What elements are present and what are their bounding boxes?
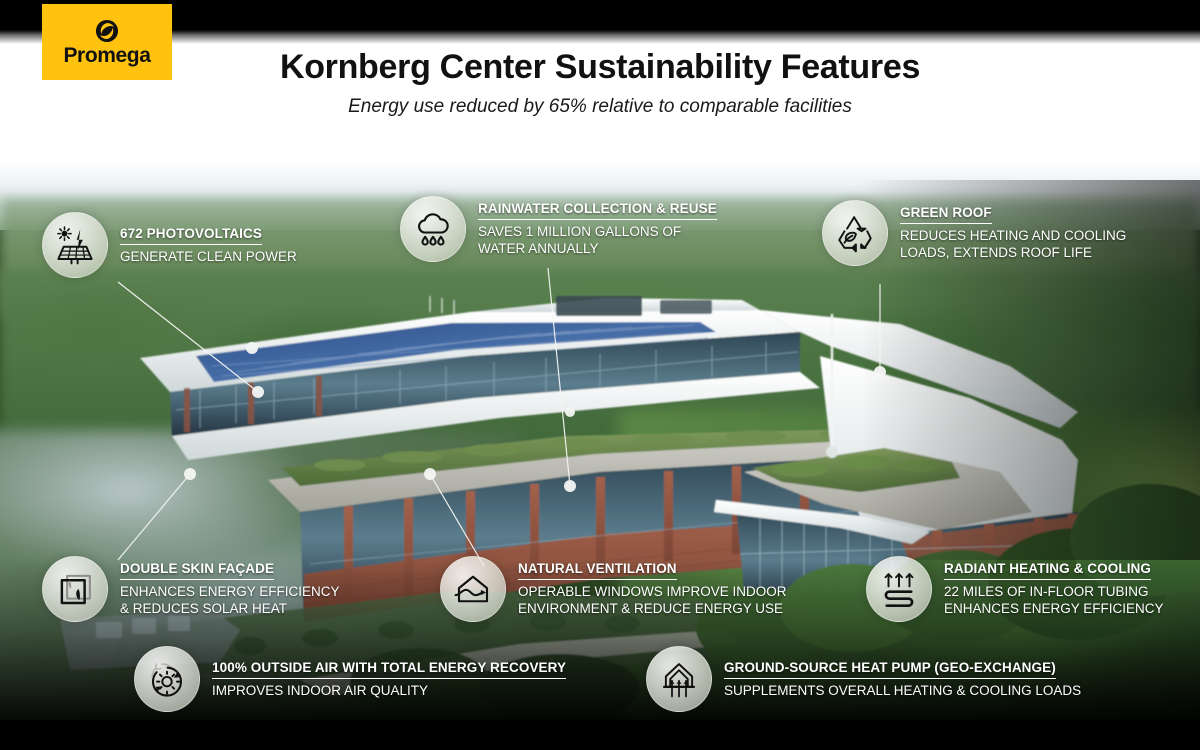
page-title: Kornberg Center Sustainability Features xyxy=(0,48,1200,87)
gear-recycle-icon xyxy=(134,646,200,712)
feature-title: RADIANT HEATING & COOLING xyxy=(944,561,1151,580)
feature-desc: SAVES 1 MILLION GALLONS OF WATER ANNUALL… xyxy=(478,223,717,258)
feature-desc: ENHANCES ENERGY EFFICIENCY & REDUCES SOL… xyxy=(120,583,340,618)
feature-title: GREEN ROOF xyxy=(900,205,992,224)
radiant-tubing-icon xyxy=(866,556,932,622)
feature-text: RADIANT HEATING & COOLING 22 MILES OF IN… xyxy=(944,560,1164,618)
feature-text: NATURAL VENTILATION OPERABLE WINDOWS IMP… xyxy=(518,560,787,618)
feature-title: DOUBLE SKIN FAÇADE xyxy=(120,561,274,580)
feature-text: DOUBLE SKIN FAÇADE ENHANCES ENERGY EFFIC… xyxy=(120,560,340,618)
feature-desc: REDUCES HEATING AND COOLING LOADS, EXTEN… xyxy=(900,227,1126,262)
infographic-root: Promega Kornberg Center Sustainability F… xyxy=(0,0,1200,750)
feature-double-skin-facade[interactable]: DOUBLE SKIN FAÇADE ENHANCES ENERGY EFFIC… xyxy=(42,556,340,622)
feature-text: 100% OUTSIDE AIR WITH TOTAL ENERGY RECOV… xyxy=(212,659,566,699)
header-bar: Promega Kornberg Center Sustainability F… xyxy=(0,0,1200,160)
feature-natural-ventilation[interactable]: NATURAL VENTILATION OPERABLE WINDOWS IMP… xyxy=(440,556,787,622)
footer-black-bar xyxy=(0,720,1200,750)
house-geothermal-icon xyxy=(646,646,712,712)
feature-text: RAINWATER COLLECTION & REUSE SAVES 1 MIL… xyxy=(478,200,717,258)
rain-cloud-icon xyxy=(400,196,466,262)
feature-desc: IMPROVES INDOOR AIR QUALITY xyxy=(212,682,566,700)
house-airflow-icon xyxy=(440,556,506,622)
feature-photovoltaics[interactable]: 672 PHOTOVOLTAICS GENERATE CLEAN POWER xyxy=(42,212,297,278)
feature-ground-source-heat-pump[interactable]: GROUND-SOURCE HEAT PUMP (GEO-EXCHANGE) S… xyxy=(646,646,1081,712)
promega-logo-text: Promega xyxy=(63,45,150,66)
feature-desc: OPERABLE WINDOWS IMPROVE INDOOR ENVIRONM… xyxy=(518,583,787,618)
page-subtitle: Energy use reduced by 65% relative to co… xyxy=(0,96,1200,118)
promega-logo[interactable]: Promega xyxy=(42,4,172,80)
feature-text: GROUND-SOURCE HEAT PUMP (GEO-EXCHANGE) S… xyxy=(724,659,1081,699)
recycle-leaf-icon xyxy=(822,200,888,266)
feature-title: NATURAL VENTILATION xyxy=(518,561,677,580)
feature-text: 672 PHOTOVOLTAICS GENERATE CLEAN POWER xyxy=(120,225,297,265)
feature-title: 672 PHOTOVOLTAICS xyxy=(120,226,262,245)
header-gradient-fade xyxy=(0,30,1200,44)
feature-title: RAINWATER COLLECTION & REUSE xyxy=(478,201,717,220)
feature-desc: GENERATE CLEAN POWER xyxy=(120,248,297,266)
feature-desc: 22 MILES OF IN-FLOOR TUBING ENHANCES ENE… xyxy=(944,583,1164,618)
header-black-bar xyxy=(0,0,1200,34)
double-window-icon xyxy=(42,556,108,622)
feature-rainwater[interactable]: RAINWATER COLLECTION & REUSE SAVES 1 MIL… xyxy=(400,196,717,262)
feature-outside-air-energy-recovery[interactable]: 100% OUTSIDE AIR WITH TOTAL ENERGY RECOV… xyxy=(134,646,566,712)
promega-swirl-icon xyxy=(94,18,120,44)
feature-title: 100% OUTSIDE AIR WITH TOTAL ENERGY RECOV… xyxy=(212,660,566,679)
feature-green-roof[interactable]: GREEN ROOF REDUCES HEATING AND COOLING L… xyxy=(822,200,1126,266)
solar-panel-icon xyxy=(42,212,108,278)
feature-title: GROUND-SOURCE HEAT PUMP (GEO-EXCHANGE) xyxy=(724,660,1056,679)
feature-desc: SUPPLEMENTS OVERALL HEATING & COOLING LO… xyxy=(724,682,1081,700)
feature-radiant-heating-cooling[interactable]: RADIANT HEATING & COOLING 22 MILES OF IN… xyxy=(866,556,1164,622)
feature-text: GREEN ROOF REDUCES HEATING AND COOLING L… xyxy=(900,204,1126,262)
